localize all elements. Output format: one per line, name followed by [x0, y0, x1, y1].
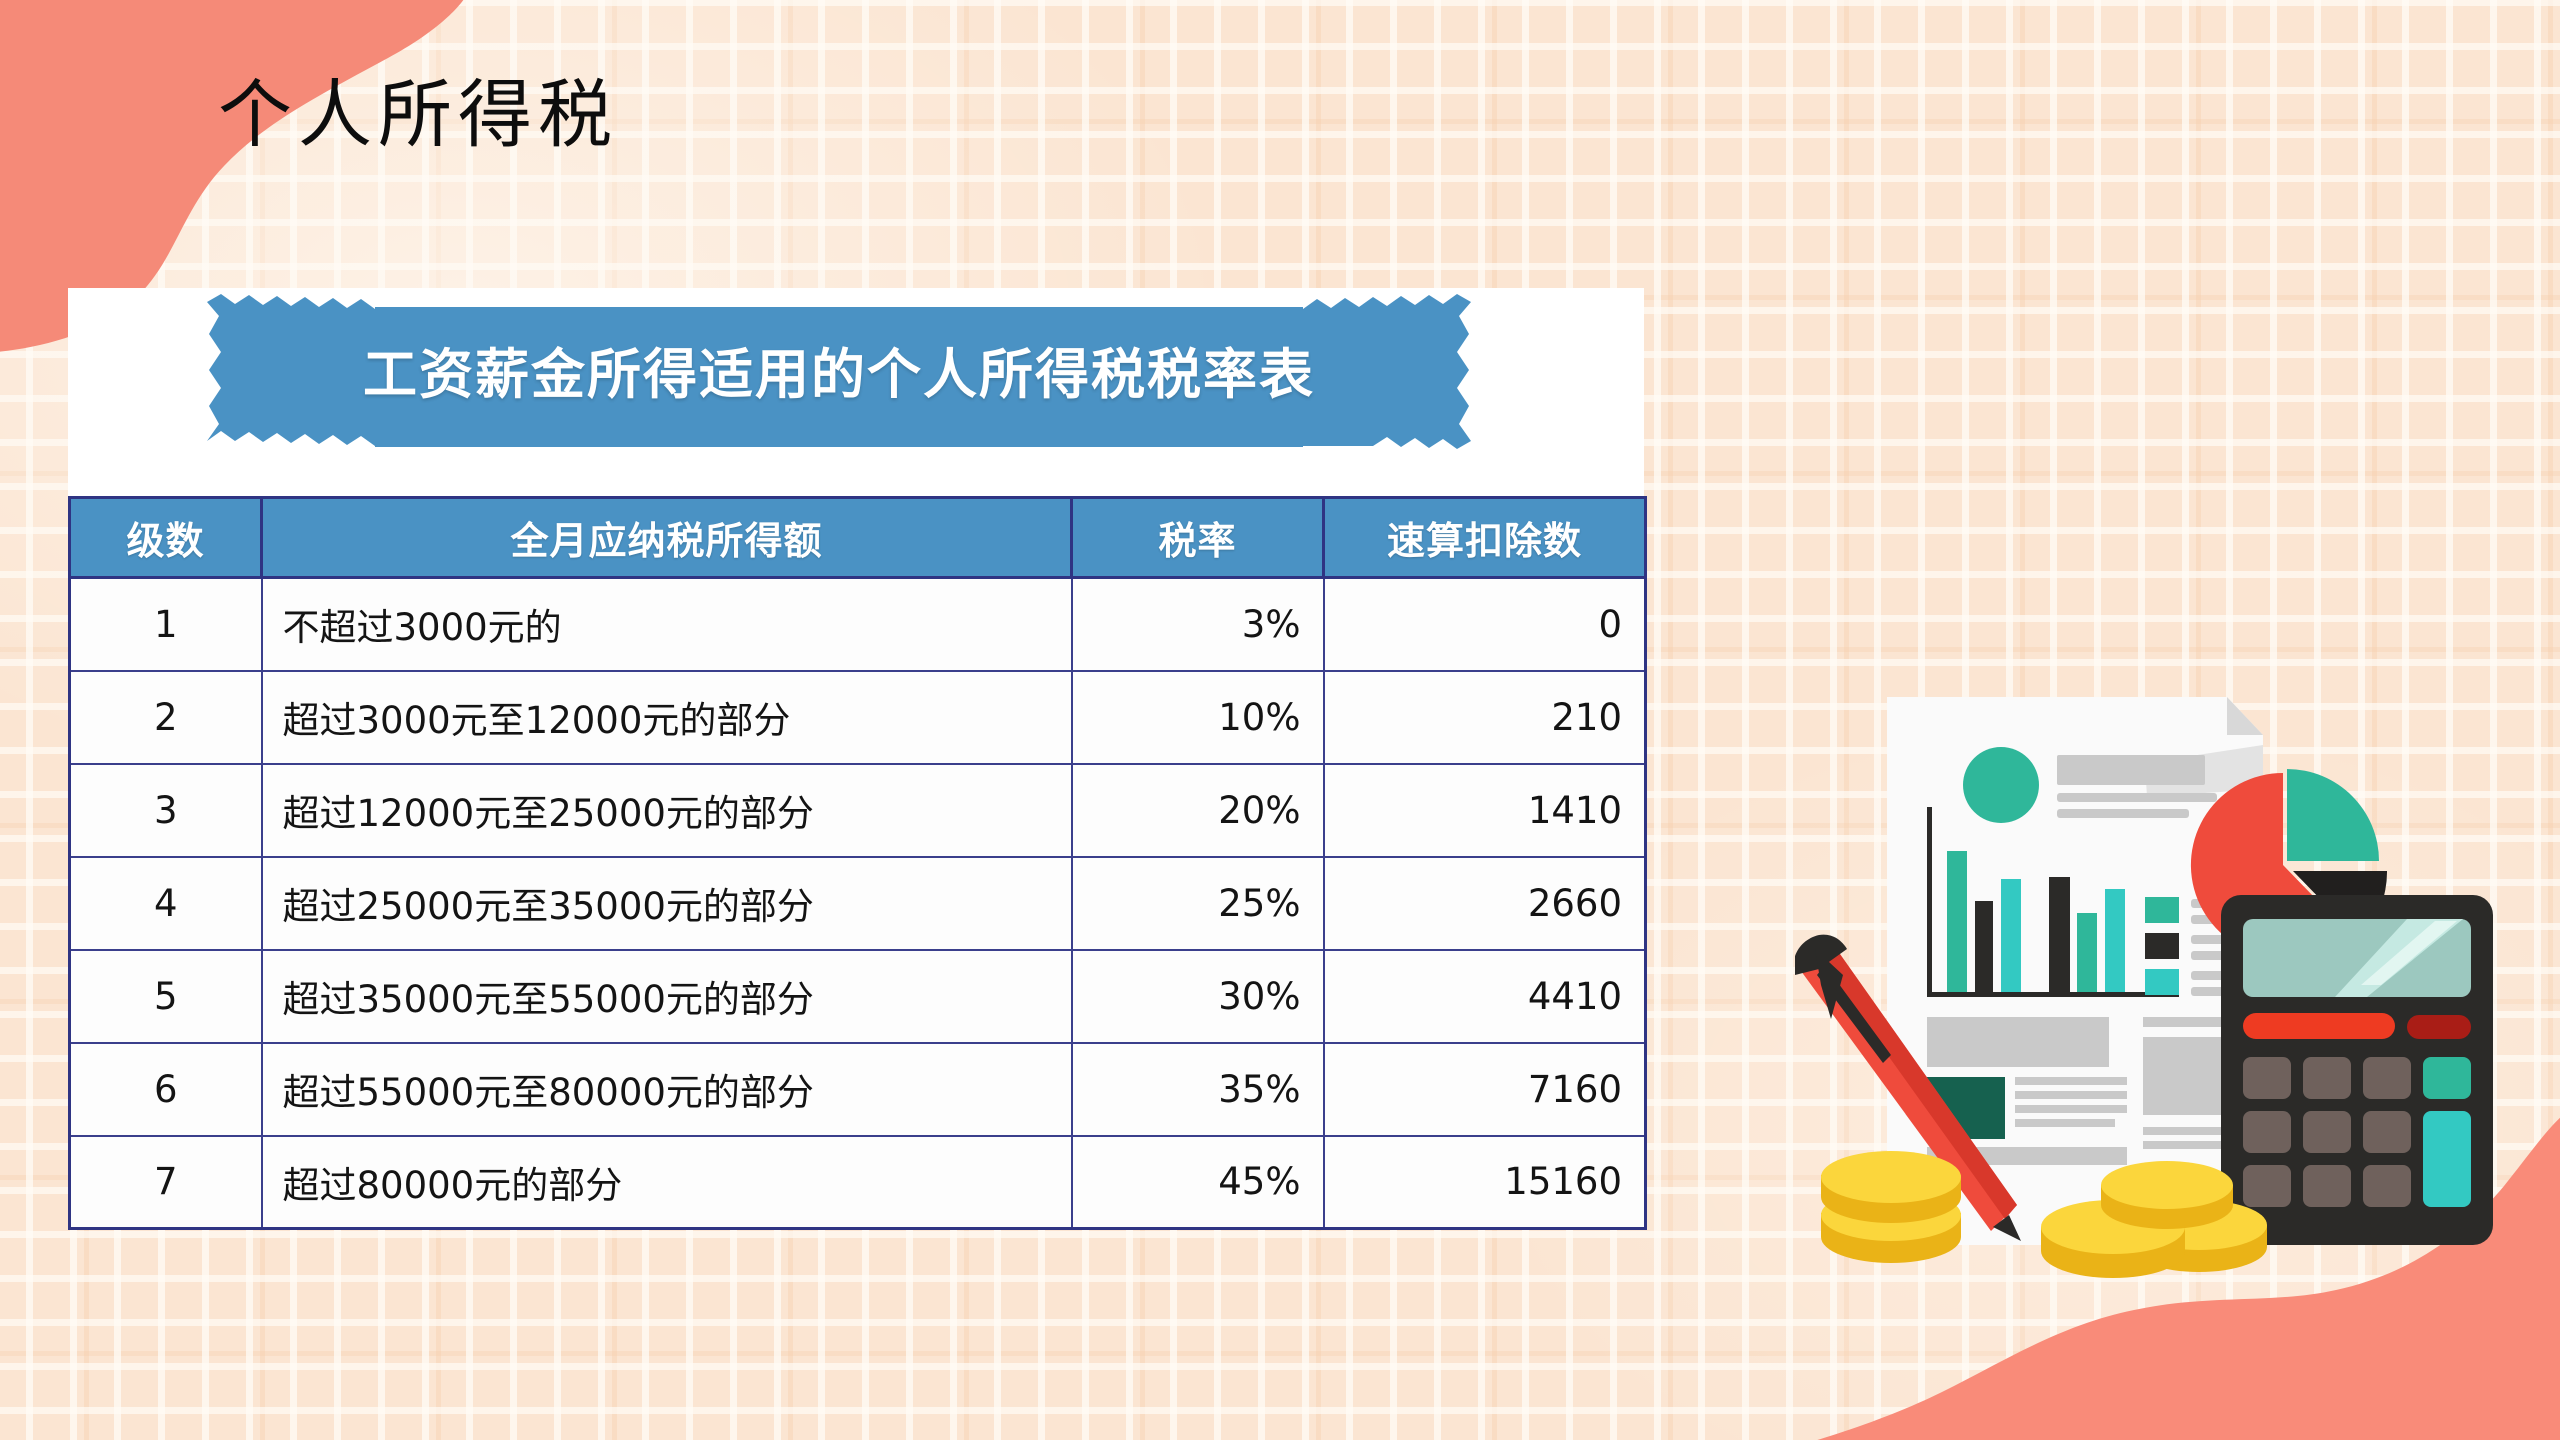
column-header-rate: 税率 [1072, 498, 1324, 578]
table-row: 4超过25000元至35000元的部分25%2660 [70, 857, 1646, 950]
cell-range: 不超过3000元的 [262, 578, 1072, 671]
cell-level: 1 [70, 578, 262, 671]
cell-rate: 10% [1072, 671, 1324, 764]
cell-deduction: 1410 [1324, 764, 1646, 857]
tax-rate-table: 级数 全月应纳税所得额 税率 速算扣除数 1不超过3000元的3%02超过300… [68, 496, 1647, 1230]
doc-avatar-circle [1963, 747, 2039, 823]
column-header-range: 全月应纳税所得额 [262, 498, 1072, 578]
cell-deduction: 0 [1324, 578, 1646, 671]
table-row: 2超过3000元至12000元的部分10%210 [70, 671, 1646, 764]
cell-range: 超过35000元至55000元的部分 [262, 950, 1072, 1043]
cell-deduction: 2660 [1324, 857, 1646, 950]
calculator-icon [2221, 895, 2493, 1245]
column-header-deduction: 速算扣除数 [1324, 498, 1646, 578]
cell-range: 超过12000元至25000元的部分 [262, 764, 1072, 857]
cell-level: 4 [70, 857, 262, 950]
cell-level: 7 [70, 1136, 262, 1229]
cell-range: 超过3000元至12000元的部分 [262, 671, 1072, 764]
table-row: 3超过12000元至25000元的部分20%1410 [70, 764, 1646, 857]
table-header-row: 级数 全月应纳税所得额 税率 速算扣除数 [70, 498, 1646, 578]
banner-title: 工资薪金所得适用的个人所得税税率表 [207, 294, 1471, 449]
cell-rate: 25% [1072, 857, 1324, 950]
cell-rate: 20% [1072, 764, 1324, 857]
cell-rate: 45% [1072, 1136, 1324, 1229]
finance-report-illustration [1795, 685, 2515, 1305]
cell-deduction: 4410 [1324, 950, 1646, 1043]
cell-range: 超过80000元的部分 [262, 1136, 1072, 1229]
cell-level: 6 [70, 1043, 262, 1136]
column-header-level: 级数 [70, 498, 262, 578]
table-row: 5超过35000元至55000元的部分30%4410 [70, 950, 1646, 1043]
table-row: 1不超过3000元的3%0 [70, 578, 1646, 671]
table-row: 6超过55000元至80000元的部分35%7160 [70, 1043, 1646, 1136]
cell-level: 3 [70, 764, 262, 857]
cell-deduction: 7160 [1324, 1043, 1646, 1136]
page-title: 个人所得税 [218, 78, 618, 152]
cell-level: 2 [70, 671, 262, 764]
cell-rate: 30% [1072, 950, 1324, 1043]
table-row: 7超过80000元的部分45%15160 [70, 1136, 1646, 1229]
cell-level: 5 [70, 950, 262, 1043]
cell-range: 超过55000元至80000元的部分 [262, 1043, 1072, 1136]
cell-range: 超过25000元至35000元的部分 [262, 857, 1072, 950]
cell-deduction: 15160 [1324, 1136, 1646, 1229]
cell-rate: 3% [1072, 578, 1324, 671]
cell-deduction: 210 [1324, 671, 1646, 764]
cell-rate: 35% [1072, 1043, 1324, 1136]
